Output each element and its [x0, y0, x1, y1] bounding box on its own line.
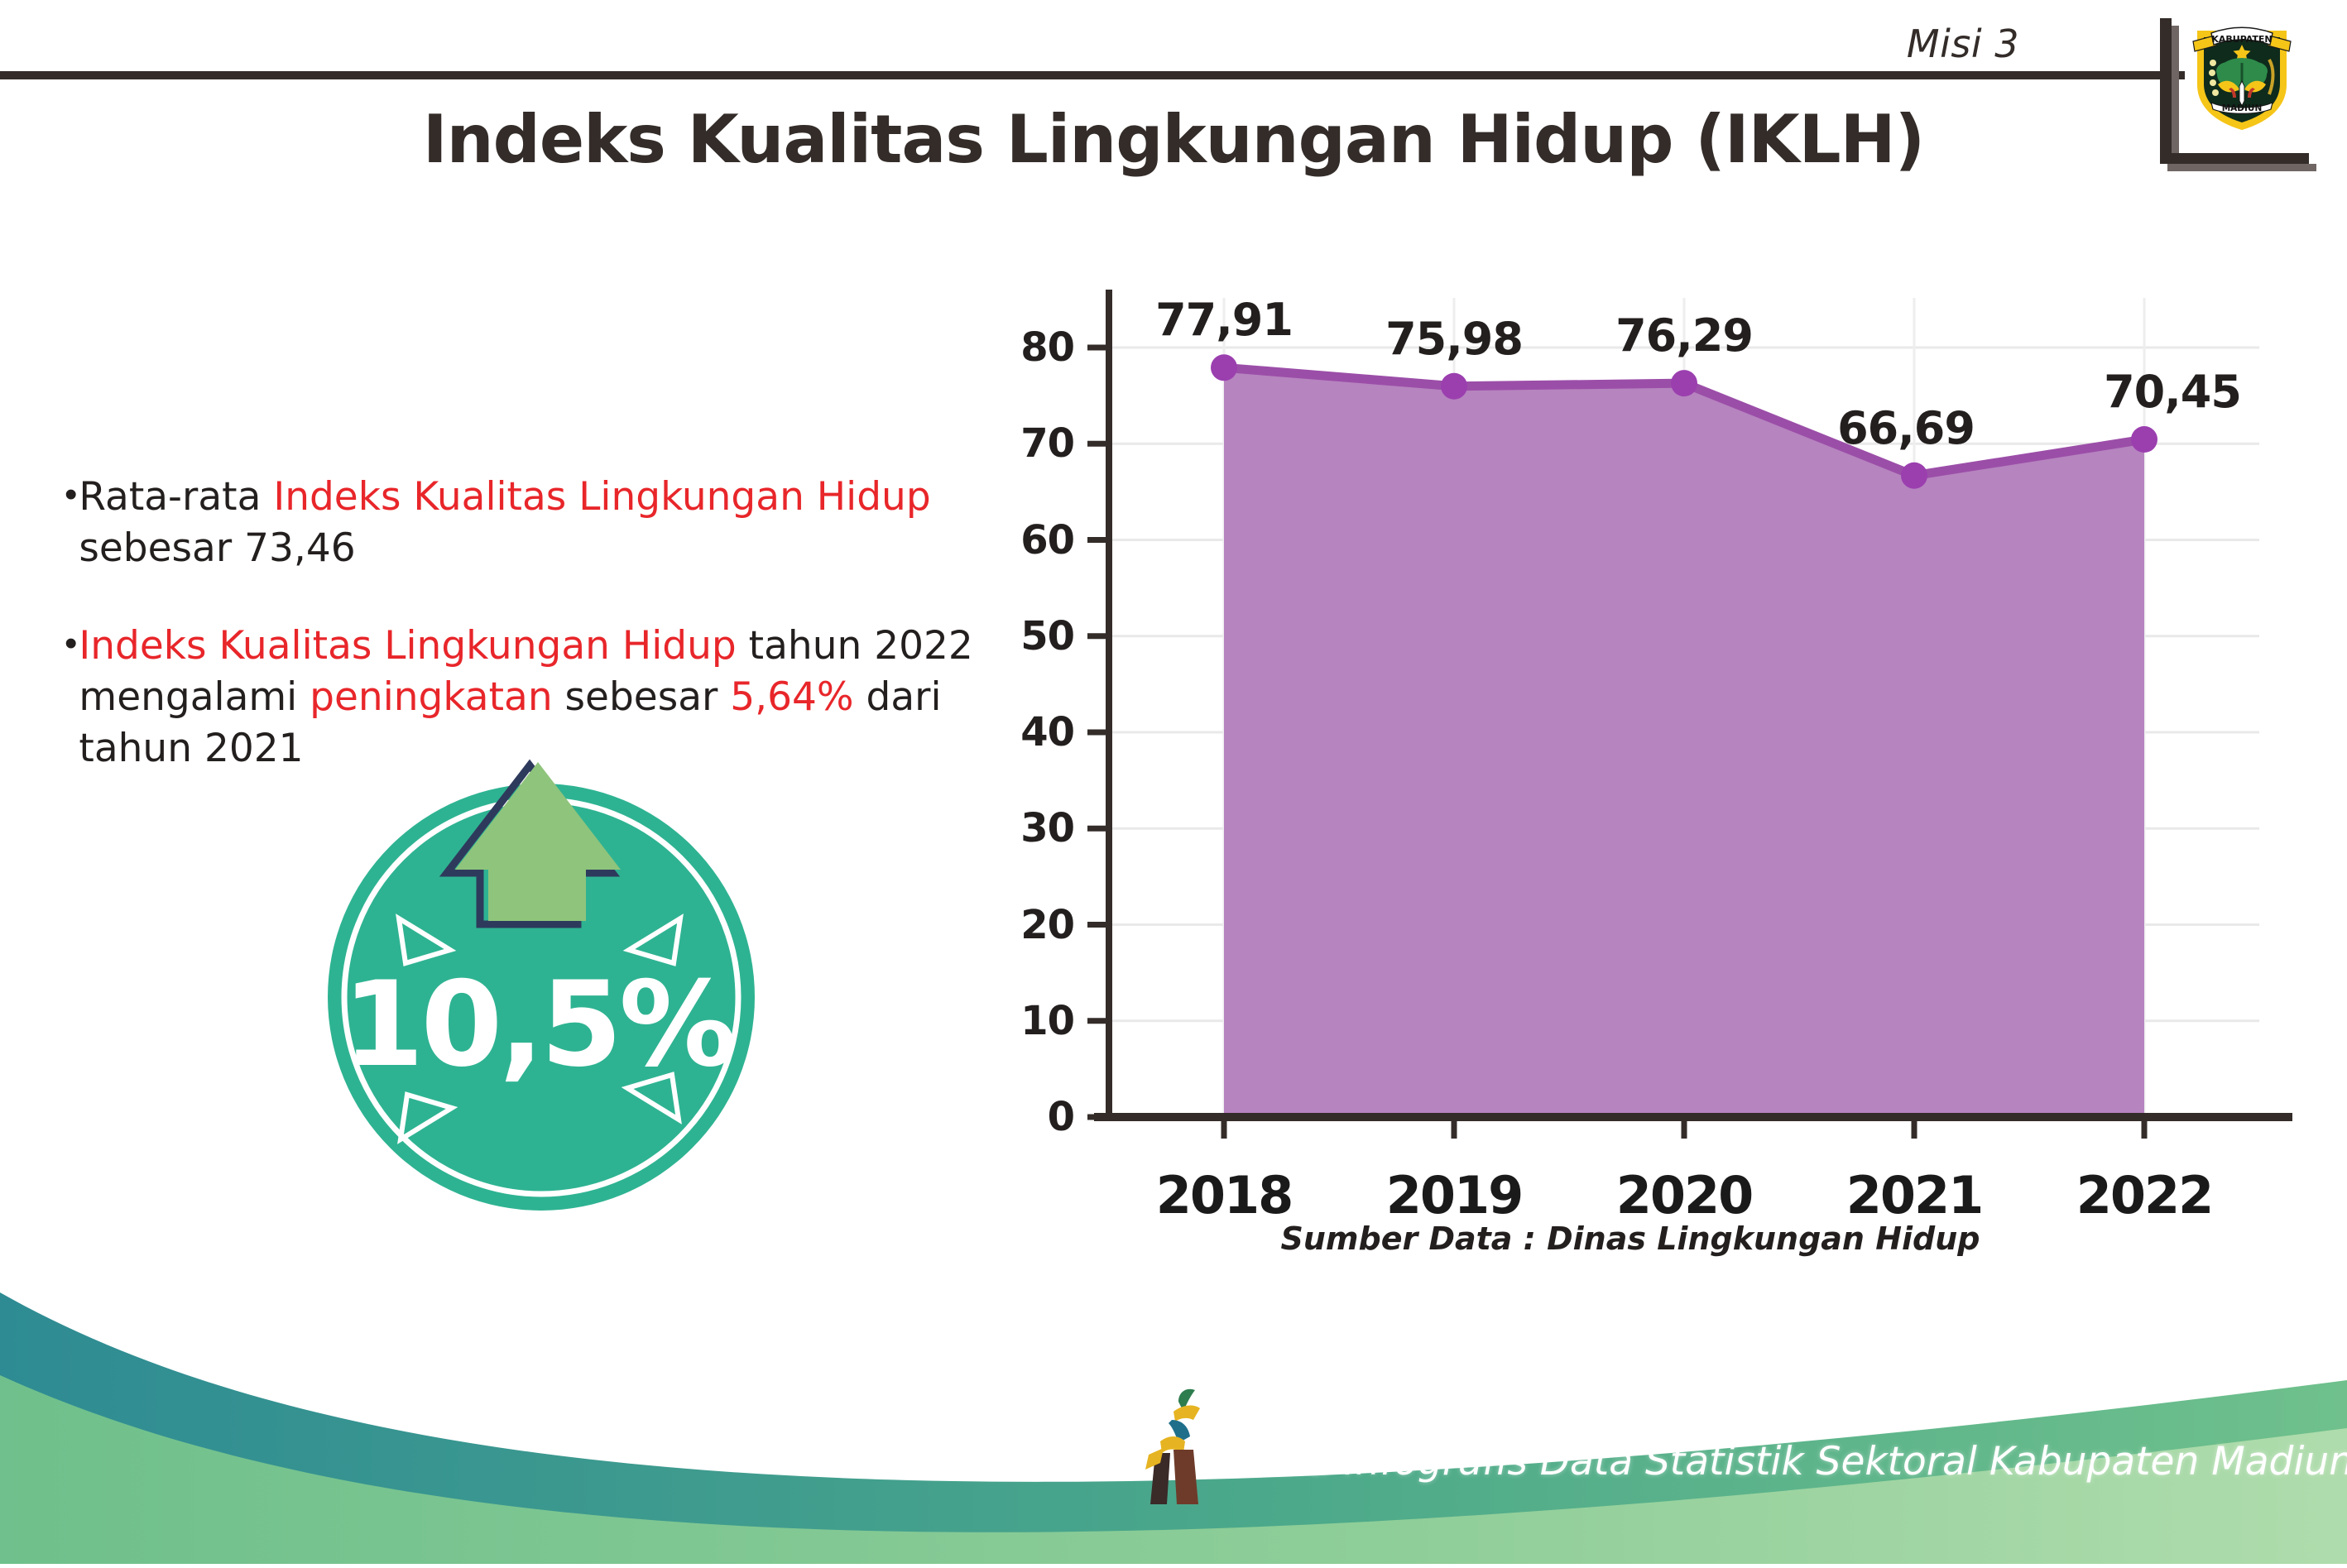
footer-banner: Media Infografis Data Statistik Sektoral…: [0, 1283, 2347, 1564]
bullet-part: sebesar: [553, 674, 731, 720]
x-axis-tick-label: 2022: [2076, 1165, 2213, 1225]
data-point-label: 66,69: [1837, 402, 1975, 454]
x-axis-tick-label: 2021: [1846, 1165, 1983, 1225]
iklh-area-chart: 01020304050607080 20182019202020212022 7…: [952, 273, 2309, 1291]
y-axis-tick-label: 10: [1020, 998, 1074, 1044]
y-axis-tick-label: 70: [1020, 420, 1074, 467]
list-item: • Rata-rata Indeks Kualitas Lingkungan H…: [65, 472, 991, 574]
y-axis-tick-label: 20: [1020, 902, 1074, 948]
statistics-figure-logo-icon: [1135, 1383, 1226, 1508]
y-axis-tick-label: 30: [1020, 805, 1074, 851]
x-axis-tick-label: 2018: [1156, 1165, 1293, 1225]
data-point-label: 75,98: [1385, 313, 1523, 365]
bullet-marker: •: [65, 477, 77, 513]
footer-text: Media Infografis Data Statistik Sektoral…: [1215, 1439, 2347, 1484]
header-rule: [0, 71, 2185, 79]
page-title: Indeks Kualitas Lingkungan Hidup (IKLH): [0, 101, 2347, 178]
badge-value: 10,5%: [343, 957, 734, 1093]
svg-text:KABUPATEN: KABUPATEN: [2211, 34, 2272, 45]
bullet-part-highlight: Indeks Kualitas Lingkungan Hidup: [79, 623, 736, 669]
mission-label: Misi 3: [1907, 22, 2019, 66]
y-axis-tick-label: 80: [1020, 324, 1074, 371]
bullet-marker: •: [65, 626, 77, 662]
bullet-part: sebesar 73,46: [79, 525, 355, 571]
x-axis-tick-label: 2019: [1386, 1165, 1523, 1225]
y-axis-tick-label: 0: [1048, 1094, 1074, 1140]
source-note: Sumber Data : Dinas Lingkungan Hidup: [952, 1220, 2309, 1257]
data-point-label: 76,29: [1615, 309, 1753, 362]
bullet-part: Rata-rata: [79, 474, 273, 520]
y-axis-tick-label: 50: [1020, 613, 1074, 659]
bullet-part-highlight: peningkatan: [310, 674, 552, 720]
y-axis-tick-label: 40: [1020, 709, 1074, 755]
bullet-text-1: Rata-rata Indeks Kualitas Lingkungan Hid…: [79, 472, 991, 574]
increase-badge: 10,5%: [324, 749, 755, 1212]
bullet-part-highlight: 5,64%: [730, 674, 853, 720]
y-axis-tick-label: 60: [1020, 517, 1074, 563]
data-point-label: 77,91: [1155, 294, 1293, 346]
bullet-part-highlight: Indeks Kualitas Lingkungan Hidup: [273, 474, 930, 520]
data-point-label: 70,45: [2104, 366, 2241, 418]
x-axis-tick-label: 2020: [1616, 1165, 1753, 1225]
